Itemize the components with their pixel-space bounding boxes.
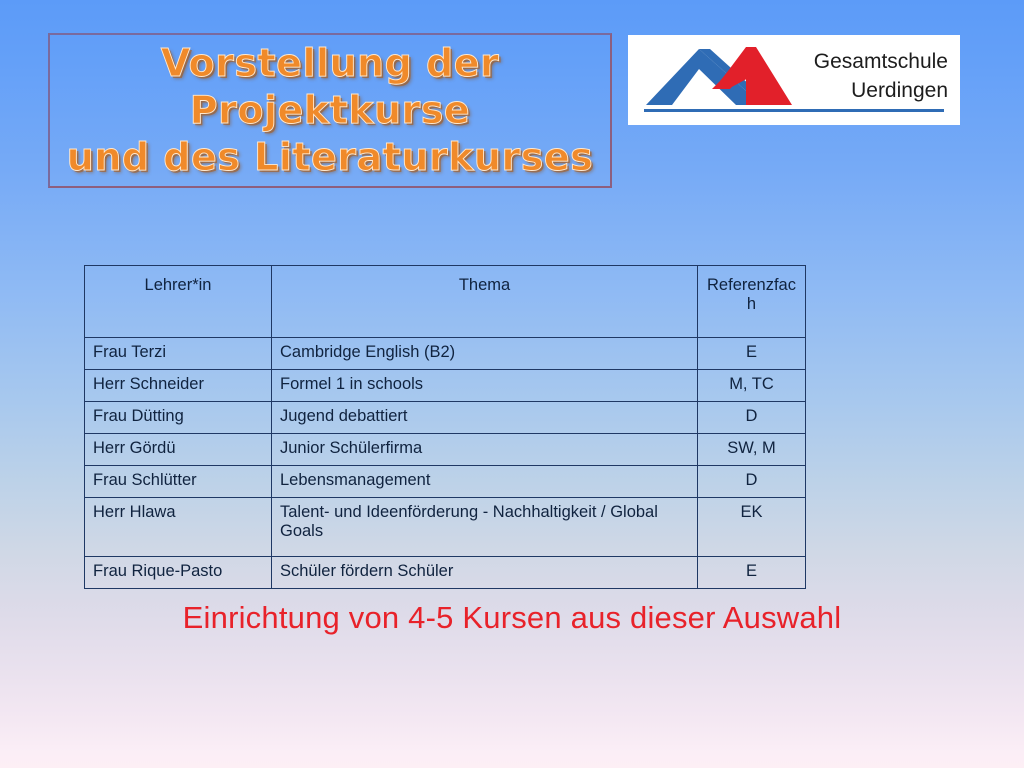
title-box: Vorstellung der Projektkurse und des Lit… <box>48 33 612 188</box>
cell-subject: EK <box>698 498 806 557</box>
table-row: Frau Rique-Pasto Schüler fördern Schüler… <box>85 557 806 589</box>
table-row: Herr Schneider Formel 1 in schools M, TC <box>85 370 806 402</box>
table-row: Frau Dütting Jugend debattiert D <box>85 402 806 434</box>
cell-teacher: Frau Rique-Pasto <box>85 557 272 589</box>
table-row: Herr Gördü Junior Schülerfirma SW, M <box>85 434 806 466</box>
cell-subject: E <box>698 338 806 370</box>
cell-topic: Schüler fördern Schüler <box>272 557 698 589</box>
cell-subject: SW, M <box>698 434 806 466</box>
table-row: Frau Schlütter Lebensmanagement D <box>85 466 806 498</box>
cell-topic: Formel 1 in schools <box>272 370 698 402</box>
logo-underline <box>644 109 944 112</box>
presentation-slide: Vorstellung der Projektkurse und des Lit… <box>0 0 1024 768</box>
cell-teacher: Herr Schneider <box>85 370 272 402</box>
slide-caption: Einrichtung von 4-5 Kursen aus dieser Au… <box>0 600 1024 636</box>
table-row: Frau Terzi Cambridge English (B2) E <box>85 338 806 370</box>
cell-teacher: Herr Gördü <box>85 434 272 466</box>
cell-subject: D <box>698 402 806 434</box>
table-row: Herr Hlawa Talent- und Ideenförderung - … <box>85 498 806 557</box>
cell-subject: M, TC <box>698 370 806 402</box>
column-header-topic: Thema <box>272 266 698 338</box>
course-table: Lehrer*in Thema Referenzfach Frau Terzi … <box>84 265 806 589</box>
cell-teacher: Herr Hlawa <box>85 498 272 557</box>
table-header: Lehrer*in Thema Referenzfach <box>85 266 806 338</box>
column-header-subject: Referenzfach <box>698 266 806 338</box>
logo-inner: Gesamtschule Uerdingen <box>628 35 960 125</box>
cell-subject: E <box>698 557 806 589</box>
cell-teacher: Frau Terzi <box>85 338 272 370</box>
cell-topic: Cambridge English (B2) <box>272 338 698 370</box>
table-header-row: Lehrer*in Thema Referenzfach <box>85 266 806 338</box>
cell-teacher: Frau Schlütter <box>85 466 272 498</box>
cell-topic: Talent- und Ideenförderung - Nachhaltigk… <box>272 498 698 557</box>
cell-teacher: Frau Dütting <box>85 402 272 434</box>
cell-topic: Lebensmanagement <box>272 466 698 498</box>
school-logo: Gesamtschule Uerdingen <box>628 35 960 125</box>
logo-text: Gesamtschule Uerdingen <box>768 47 948 105</box>
slide-title: Vorstellung der Projektkurse und des Lit… <box>61 40 599 181</box>
table-body: Frau Terzi Cambridge English (B2) E Herr… <box>85 338 806 589</box>
cell-subject: D <box>698 466 806 498</box>
cell-topic: Junior Schülerfirma <box>272 434 698 466</box>
column-header-teacher: Lehrer*in <box>85 266 272 338</box>
cell-topic: Jugend debattiert <box>272 402 698 434</box>
